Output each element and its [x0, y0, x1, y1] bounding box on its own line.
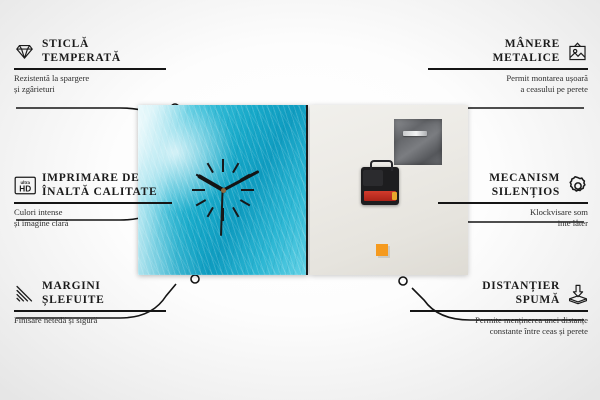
callout-title-line2: ȘLEFUITE — [42, 294, 104, 306]
callout-title-line1: MECANISM — [489, 172, 560, 184]
callout-title-line1: MÂNERE — [505, 38, 560, 50]
polished-edge-icon — [14, 283, 35, 304]
callout-foam-spacer: DISTANȚIER SPUMĂ Permite menținerea unei… — [410, 280, 588, 337]
infographic-canvas: STICLĂ TEMPERATĂ Rezistentă la spargere … — [0, 0, 600, 400]
callout-desc-line2: și zgârieturi — [14, 84, 55, 94]
callout-rule — [438, 202, 588, 204]
callout-desc-line2: constante între ceas și perete — [490, 326, 588, 336]
callout-title-line2: SILENȚIOS — [492, 186, 560, 198]
callout-title-line2: SPUMĂ — [516, 294, 560, 306]
leader-dot — [399, 277, 407, 285]
callout-title-line2: METALICE — [493, 52, 560, 64]
callout-title-line1: DISTANȚIER — [482, 280, 560, 292]
down-arrow-pad-icon — [567, 283, 588, 304]
metal-handle-plate — [394, 119, 442, 165]
callout-title-line1: STICLĂ — [42, 38, 89, 50]
ultra-hd-icon: ultra HD — [14, 175, 35, 196]
mechanism-body — [363, 170, 383, 186]
picture-hanger-icon — [567, 41, 588, 62]
callout-rule — [14, 310, 166, 312]
callout-title-line2: TEMPERATĂ — [42, 52, 121, 64]
callout-desc-line1: Klockvisare som — [530, 207, 588, 217]
svg-text:HD: HD — [19, 184, 31, 193]
callout-rule — [14, 202, 172, 204]
callout-desc-line2: și imagine clară — [14, 218, 68, 228]
diamond-icon — [14, 41, 35, 62]
callout-hd-print: ultra HD IMPRIMARE DE ÎNALTĂ CALITATE Cu… — [14, 172, 172, 229]
callout-metal-handles: MÂNERE METALICE Permit montarea ușoară a… — [428, 38, 588, 95]
callout-tempered-glass: STICLĂ TEMPERATĂ Rezistentă la spargere … — [14, 38, 166, 95]
callout-title-line2: ÎNALTĂ CALITATE — [42, 186, 157, 198]
callout-rule — [14, 68, 166, 70]
callout-rule — [428, 68, 588, 70]
metal-handle-slot — [403, 131, 427, 136]
callout-polished-edges: MARGINI ȘLEFUITE Finisare netedă și sigu… — [14, 280, 166, 326]
callout-desc-line1: Finisare netedă și sigură — [14, 315, 97, 325]
callout-desc-line1: Permit montarea ușoară — [506, 73, 588, 83]
clock-center-cap — [221, 188, 226, 193]
callout-desc-line1: Culori intense — [14, 207, 62, 217]
gear-icon — [567, 175, 588, 196]
foam-spacer — [376, 244, 388, 256]
callout-desc-line2: inte låter — [558, 218, 588, 228]
callout-title-line1: MARGINI — [42, 280, 101, 292]
clock-mechanism — [361, 167, 399, 205]
callout-desc-line2: a ceasului pe perete — [520, 84, 588, 94]
callout-rule — [410, 310, 588, 312]
battery — [364, 191, 396, 201]
callout-desc-line1: Rezistentă la spargere — [14, 73, 89, 83]
product-image — [138, 105, 468, 275]
callout-silent-mechanism: MECANISM SILENȚIOS Klockvisare som inte … — [438, 172, 588, 229]
callout-desc-line1: Permite menținerea unei distanțe — [475, 315, 588, 325]
leader-dot — [191, 275, 199, 283]
callout-title-line1: IMPRIMARE DE — [42, 172, 140, 184]
